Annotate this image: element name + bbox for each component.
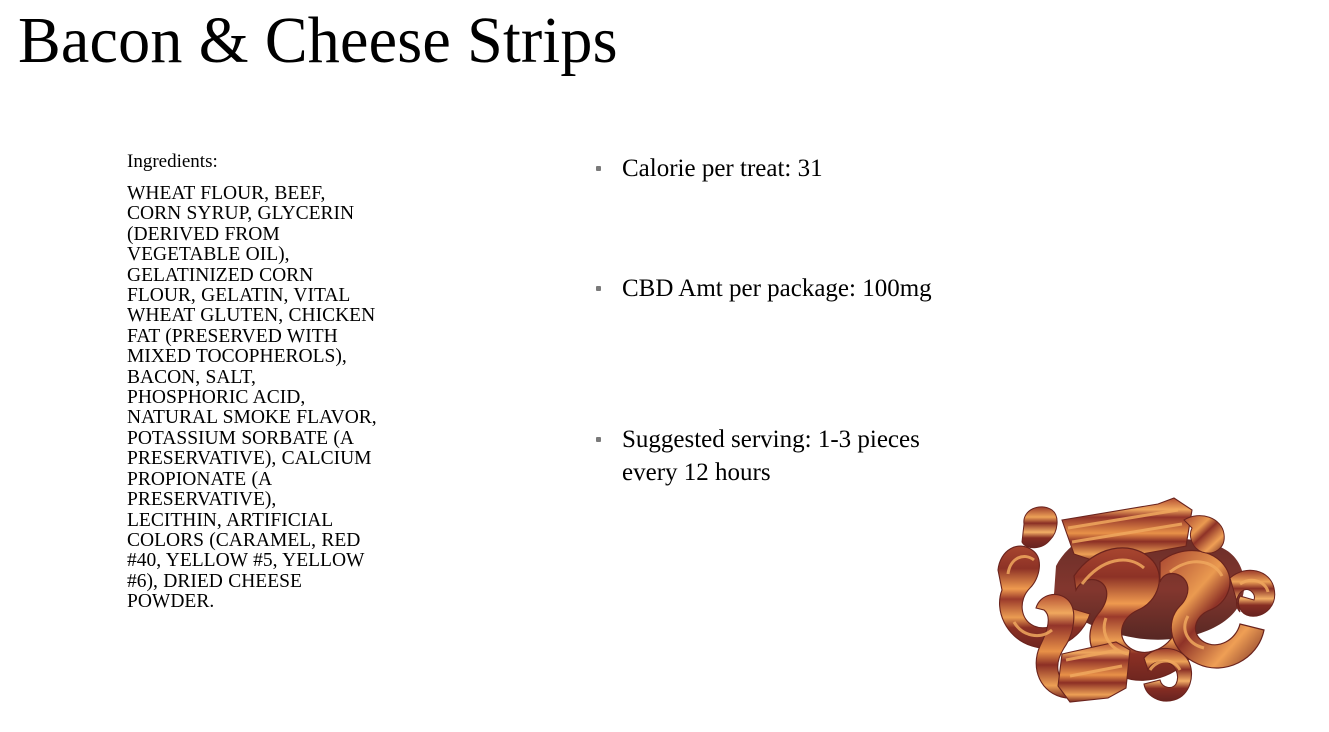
ingredients-line: POWDER. [127,592,467,612]
ingredients-line: MIXED TOCOPHEROLS), [127,347,467,367]
ingredients-line: FLOUR, GELATIN, VITAL [127,286,467,306]
page-title: Bacon & Cheese Strips [18,2,618,80]
ingredients-heading: Ingredients: [127,150,467,174]
product-facts-list: Calorie per treat: 31 CBD Amt per packag… [592,152,932,489]
list-item-cbd-amount: CBD Amt per package: 100mg [592,272,932,305]
bullet-icon [596,286,601,291]
ingredients-line: WHEAT GLUTEN, CHICKEN [127,306,467,326]
bacon-strips-illustration [978,458,1278,703]
ingredients-line: LECITHIN, ARTIFICIAL [127,511,467,531]
list-item-suggested-serving: Suggested serving: 1-3 pieces every 12 h… [592,423,932,489]
ingredients-text: WHEAT FLOUR, BEEF,CORN SYRUP, GLYCERIN(D… [127,184,467,613]
bullet-icon [596,437,601,442]
ingredients-line: PHOSPHORIC ACID, [127,388,467,408]
ingredients-line: PRESERVATIVE), [127,490,467,510]
bacon-strip-right-tail [1230,570,1275,616]
ingredients-line: PRESERVATIVE), CALCIUM [127,449,467,469]
fact-text: CBD Amt per package: 100mg [622,272,932,305]
ingredients-line: POTASSIUM SORBATE (A [127,429,467,449]
ingredients-line: BACON, SALT, [127,368,467,388]
ingredients-line: #40, YELLOW #5, YELLOW [127,551,467,571]
ingredients-line: CORN SYRUP, GLYCERIN [127,204,467,224]
ingredients-line: NATURAL SMOKE FLAVOR, [127,408,467,428]
ingredients-line: VEGETABLE OIL), [127,245,467,265]
ingredients-line: COLORS (CARAMEL, RED [127,531,467,551]
ingredients-line: FAT (PRESERVED WITH [127,327,467,347]
product-image [978,458,1278,703]
list-item-calorie-per-treat: Calorie per treat: 31 [592,152,932,185]
fact-text: Calorie per treat: 31 [622,152,932,185]
bullet-icon [596,166,601,171]
ingredients-line: WHEAT FLOUR, BEEF, [127,184,467,204]
ingredients-line: PROPIONATE (A [127,470,467,490]
bacon-strip-curl-upper-left [1022,507,1057,548]
ingredients-line: #6), DRIED CHEESE [127,572,467,592]
fact-text: Suggested serving: 1-3 pieces every 12 h… [622,423,932,489]
ingredients-block: Ingredients: WHEAT FLOUR, BEEF,CORN SYRU… [127,150,467,613]
ingredients-line: GELATINIZED CORN [127,266,467,286]
ingredients-line: (DERIVED FROM [127,225,467,245]
